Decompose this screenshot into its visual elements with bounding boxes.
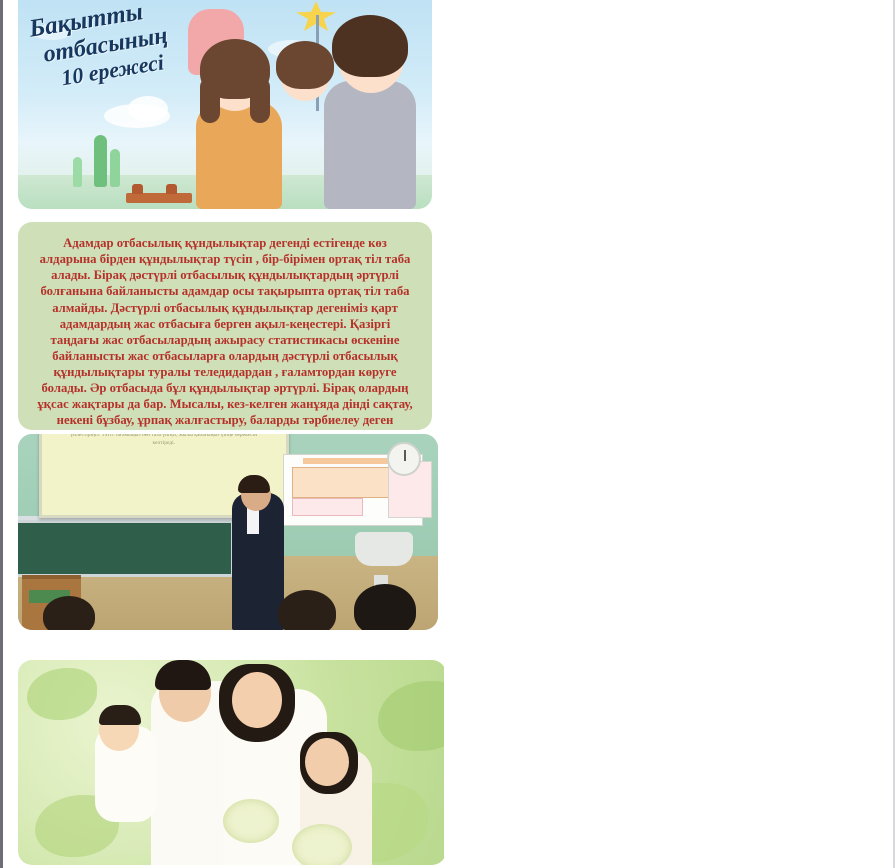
cloud-shape [128, 96, 168, 122]
tree-shape [94, 135, 107, 187]
father-body [324, 81, 416, 209]
father-hair [155, 660, 211, 690]
slides-grid: Бақытты отбасының 10 ережесі [0, 0, 895, 868]
slide-family-rules[interactable]: Бақытты отбасының 10 ережесі [18, 0, 432, 209]
foliage-shape [27, 668, 97, 720]
slide-cell-photo-classroom-presenter[interactable]: қалыңыз. Үй тіршілігін жеңілдетеді, тау … [0, 432, 444, 654]
tree-shape [73, 157, 82, 187]
audience-head [43, 596, 95, 630]
projected-text: қалыңыз. Үй тіршілігін жеңілдетеді, тау … [61, 434, 266, 448]
wall-clock-icon [387, 442, 421, 476]
slide-cell-family-traditions[interactable]: Дәстүрлі Бір-бірін сүйіп қосылған жанұял… [444, 216, 895, 432]
girl-head [305, 738, 349, 786]
slide-cell-family-rules[interactable]: Бақытты отбасының 10 ережесі [0, 0, 444, 216]
slide-photo-family-garden[interactable] [18, 660, 444, 865]
classroom-photo: қалыңыз. Үй тіршілігін жеңілдетеді, тау … [18, 434, 438, 630]
slide-photo-classroom-presenter[interactable]: қалыңыз. Үй тіршілігін жеңілдетеді, тау … [18, 434, 438, 630]
slide-body-text: Адамдар отбасылық құндылықтар дегенді ес… [18, 222, 432, 430]
sink-basin [355, 532, 413, 566]
slide-cell-traditional-values[interactable]: Адамдар отбасылық құндылықтар дегенді ес… [0, 216, 444, 432]
mother-hair-side [200, 77, 220, 123]
slide-cell-photo-classroom-students[interactable]: жонарын жатқандай жасаңыз және күйеуіңіз… [444, 432, 895, 654]
audience-head [278, 590, 336, 630]
slide-cell-photo-family-garden[interactable] [0, 654, 444, 868]
bouquet-flowers [292, 824, 352, 865]
student-presenter-shirt [247, 508, 259, 534]
chalkboard [18, 520, 234, 577]
student-presenter-hair [238, 475, 270, 493]
poster-header-band [303, 458, 389, 464]
foliage-shape [378, 681, 444, 751]
tree-shape [110, 149, 120, 187]
child-hair [276, 41, 334, 89]
slide-traditional-values[interactable]: Адамдар отбасылық құндылықтар дегенді ес… [18, 222, 432, 430]
slide-cell-values-intro[interactable]: құндылықтар Қазіргі таңдағы отбасылар бұ… [444, 0, 895, 216]
poster-table-secondary [292, 498, 363, 516]
mother-hair-side [250, 77, 270, 123]
audience-head [354, 584, 416, 630]
father-hair [332, 15, 408, 77]
family-illustration [188, 9, 418, 209]
bench-shape [126, 193, 192, 203]
slide-cell-closing-text[interactable]: Отбасы – табиғат сыйлаған кереметтердің … [444, 654, 895, 868]
family-garden-photo [18, 660, 444, 865]
mother-head [232, 672, 282, 728]
baby-hair [99, 705, 141, 725]
